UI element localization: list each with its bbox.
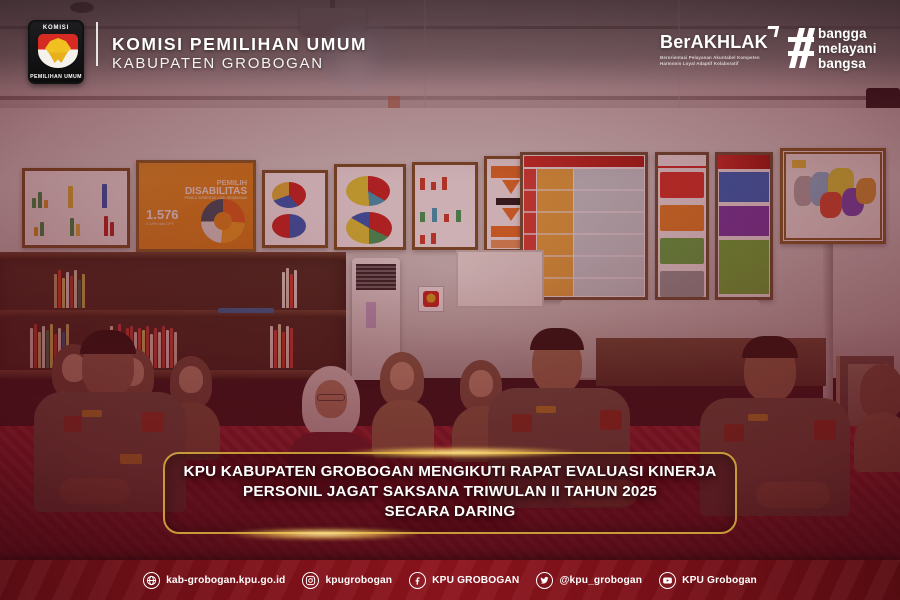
twitter-icon[interactable] (536, 572, 553, 589)
poster-canvas: PEMILIH DISABILITAS PEMILU SERENTAK KAB.… (0, 0, 900, 600)
poster-title: PEMILIH DISABILITAS PEMILU SERENTAK KAB.… (184, 179, 247, 201)
header-bar: KOMISI PEMILIHAN UMUM KOMISI PEMILIHAN U… (0, 0, 900, 92)
poster-pie-1 (262, 170, 328, 248)
ceiling-seam (0, 96, 900, 100)
instagram-icon[interactable] (302, 572, 319, 589)
check-tick-icon (766, 26, 779, 37)
social-instagram-label[interactable]: kpugrobogan (325, 575, 392, 586)
bangga-melayani-bangsa-logo: bangga melayani bangsa (788, 26, 877, 71)
social-twitter[interactable]: @kpu_grobogan (536, 572, 642, 589)
youtube-icon[interactable] (659, 572, 676, 589)
caption-text: KPU KABUPATEN GROBOGAN MENGIKUTI RAPAT E… (163, 462, 737, 523)
bangga-text: bangga melayani bangsa (818, 26, 877, 71)
berakhlak-text: BerAKHLAK (660, 32, 768, 52)
poster-tahapan-steps (655, 152, 709, 300)
social-youtube[interactable]: KPU Grobogan (659, 572, 757, 589)
poster-stat-number: 1.576 (146, 207, 179, 222)
poster-stat-sub: 0,14% dari DPT (146, 221, 174, 226)
social-instagram[interactable]: kpugrobogan (302, 572, 392, 589)
kpu-logo-icon: KOMISI PEMILIHAN UMUM (28, 20, 84, 84)
brand-subtitle: KABUPATEN GROBOGAN (112, 55, 324, 72)
caption-block: KPU KABUPATEN GROBOGAN MENGIKUTI RAPAT E… (163, 452, 737, 534)
kpu-logo-ring-bottom: PEMILIHAN UMUM (30, 74, 82, 80)
kpu-logo-ring-top: KOMISI (30, 25, 82, 31)
wall-board (456, 250, 544, 308)
bangga-line3: bangsa (818, 56, 877, 71)
poster-info-blocks (715, 152, 773, 300)
berakhlak-tagline-line2: Harmonis Loyal Adaptif Kolaboratif (660, 61, 768, 67)
bangga-line2: melayani (818, 41, 877, 56)
poster-statistic (412, 162, 478, 250)
globe-icon[interactable] (143, 572, 160, 589)
social-media-bar: kab-grobogan.kpu.go.id kpugrobogan KPU G… (0, 560, 900, 600)
caption-line-3: SECARA DARING (163, 502, 737, 522)
berakhlak-tagline: Berorientasi Pelayanan Akuntabel Kompete… (660, 55, 768, 68)
social-website[interactable]: kab-grobogan.kpu.go.id (143, 572, 285, 589)
social-facebook-label[interactable]: KPU GROBOGAN (432, 575, 519, 586)
bangga-line1: bangga (818, 26, 877, 41)
social-youtube-label[interactable]: KPU Grobogan (682, 575, 757, 586)
berakhlak-wordmark: BerAKHLAK (660, 32, 768, 53)
poster-pemilih-disabilitas: PEMILIH DISABILITAS PEMILU SERENTAK KAB.… (136, 160, 256, 252)
kpu-wall-plaque (418, 286, 444, 312)
header-divider (96, 22, 98, 66)
poster-bar-chart (22, 168, 130, 248)
caption-glow-top (346, 447, 576, 458)
poster-grobogan-map (780, 148, 886, 244)
poster-pie-2 (334, 164, 406, 250)
caption-line-2: PERSONIL JAGAT SAKSANA TRIWULAN II TAHUN… (163, 482, 737, 502)
social-twitter-label[interactable]: @kpu_grobogan (559, 575, 642, 586)
social-website-label[interactable]: kab-grobogan.kpu.go.id (166, 575, 285, 586)
social-facebook[interactable]: KPU GROBOGAN (409, 572, 519, 589)
poster-pie-chart (201, 199, 245, 243)
brand-title: KOMISI PEMILIHAN UMUM (112, 34, 367, 55)
caption-line-1: KPU KABUPATEN GROBOGAN MENGIKUTI RAPAT E… (163, 462, 737, 482)
facebook-icon[interactable] (409, 572, 426, 589)
hashtag-icon (788, 28, 814, 68)
berakhlak-logo: BerAKHLAK Berorientasi Pelayanan Akuntab… (660, 32, 768, 68)
caption-glow-bottom (229, 528, 419, 540)
